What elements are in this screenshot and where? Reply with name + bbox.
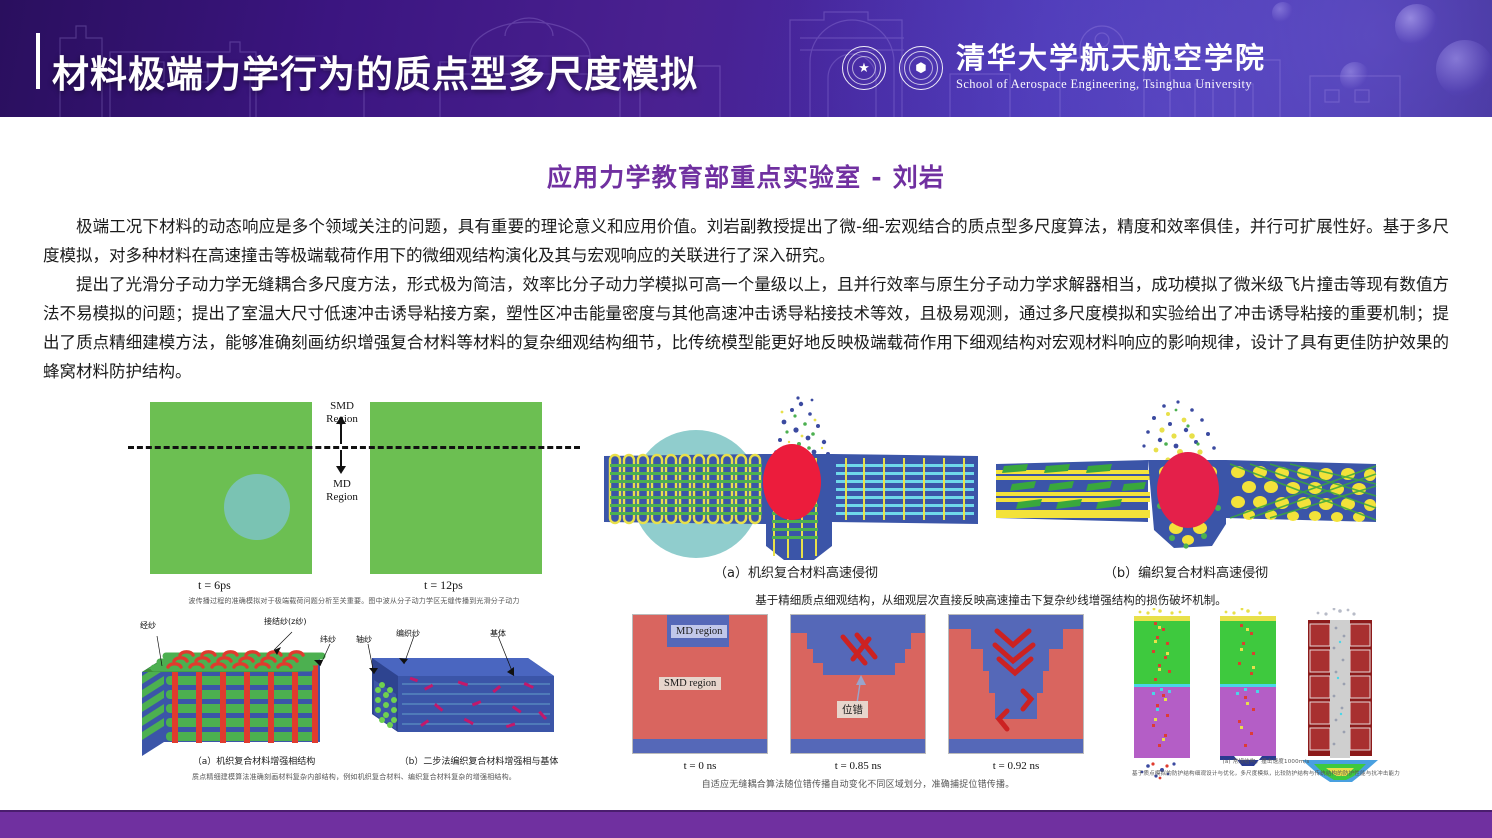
region-divider-dashed-line <box>128 446 580 449</box>
arrow-up-stem <box>340 422 342 444</box>
figure-honeycomb: (a) 常规结构，撞击速度1000m/s 基于质点模拟的防护结构细观设计与优化，… <box>1120 608 1412 788</box>
time-label-085: t = 0.85 ns <box>790 760 926 772</box>
figure-weave-caption: 质点精细建模算法准确刻画材料复杂内部结构，例如机织复合材料、编织复合材料复杂的增… <box>124 772 584 782</box>
time-label-left: t = 6ps <box>198 578 231 593</box>
figure-penetration-caption: 基于精细质点细观结构，从细观层次直接反映高速撞击下复杂纱线增强结构的损伤破坏机制… <box>596 592 1386 608</box>
penetration-illustration <box>596 396 1386 586</box>
aerospace-school-seal-icon: ⬢ <box>899 46 943 90</box>
label-matrix: 基体 <box>490 628 506 639</box>
label-binder-yarn: 接结纱(z纱) <box>264 616 306 627</box>
label-weft-yarn: 纬纱 <box>320 634 336 645</box>
lab-and-author-subtitle: 应用力学教育部重点实验室 - 刘岩 <box>0 158 1492 194</box>
slide-header: 材料极端力学行为的质点型多尺度模拟 ★ ⬢ 清华大学航天航空学院 School … <box>0 0 1492 117</box>
figure-honeycomb-caption-a: (a) 常规结构，撞击速度1000m/s <box>1120 758 1412 766</box>
institution-logo: ★ ⬢ 清华大学航天航空学院 School of Aerospace Engin… <box>842 44 1266 92</box>
title-accent-bar <box>36 33 40 89</box>
time-label-right: t = 12ps <box>424 578 463 593</box>
figure-honeycomb-caption: 基于质点模拟的防护结构细观设计与优化，多尺度模拟，比较防护结构与传统结构的防护性… <box>1120 770 1412 778</box>
tsinghua-university-seal-icon: ★ <box>842 46 886 90</box>
wave-panel-right <box>370 402 542 574</box>
arrow-down-icon <box>336 466 346 474</box>
figures-area: SMD Region MD Region t = 6ps t = 12ps 波传… <box>0 390 1492 800</box>
figure-wave-propagation: SMD Region MD Region t = 6ps t = 12ps 波传… <box>124 396 584 606</box>
dislocation-panel-t085: 位错 <box>790 614 926 754</box>
dislocation-tag: 位错 <box>837 701 868 718</box>
page-title: 材料极端力学行为的质点型多尺度模拟 <box>52 44 698 98</box>
dislocation-panel-t092 <box>948 614 1084 754</box>
label-axial-yarn: 轴纱 <box>356 634 372 645</box>
paragraph-1: 极端工况下材料的动态响应是多个领域关注的问题，具有重要的理论意义和应用价值。刘岩… <box>43 212 1449 270</box>
seal-star-icon: ★ <box>852 56 876 80</box>
paragraph-2: 提出了光滑分子动力学无缝耦合多尺度方法，形式极为简洁，效率比分子动力学模拟可高一… <box>43 270 1449 386</box>
label-braided-yarn: 编织纱 <box>396 628 420 639</box>
wave-panel-left <box>150 402 312 574</box>
figure-dislocation-caption: 自适应无缝耦合算法随位错传播自动变化不同区域划分，准确捕捉位错传播。 <box>552 780 1164 790</box>
wave-ring-small <box>224 474 290 540</box>
logo-english-name: School of Aerospace Engineering, Tsinghu… <box>956 77 1266 92</box>
time-label-0: t = 0 ns <box>632 760 768 772</box>
dislocation-marks-late <box>949 615 1085 755</box>
dislocation-marks <box>791 615 927 755</box>
time-label-092: t = 0.92 ns <box>948 760 1084 772</box>
figure-dislocation: MD region SMD region 位错 <box>632 614 1084 782</box>
figure-wave-caption: 波传播过程的准确模拟对于极端载荷问题分析至关重要。图中波从分子动力学区无缝传播到… <box>124 596 584 606</box>
figure-penetration-caption-a: （a）机织复合材料高速侵彻 <box>676 562 916 581</box>
figure-penetration-caption-b: （b）编织复合材料高速侵彻 <box>1066 562 1306 581</box>
figure-weave-caption-b: （b）二步法编织复合材料增强相与基体 <box>374 754 584 767</box>
body-text-block: 极端工况下材料的动态响应是多个领域关注的问题，具有重要的理论意义和应用价值。刘岩… <box>43 212 1449 386</box>
slide-footer-bar <box>0 810 1492 838</box>
logo-chinese-name: 清华大学航天航空学院 <box>956 44 1266 73</box>
dislocation-panel-t0: MD region SMD region <box>632 614 768 754</box>
figure-weave-structures: 经纱 接结纱(z纱) 纬纱 轴纱 编织纱 基体 （a）机织复合材料增强相结构 （… <box>124 614 584 786</box>
md-region-tag: MD region <box>671 625 727 638</box>
label-warp-yarn: 经纱 <box>140 620 156 631</box>
md-region-label: MD Region <box>314 478 370 504</box>
presentation-slide: 材料极端力学行为的质点型多尺度模拟 ★ ⬢ 清华大学航天航空学院 School … <box>0 0 1492 838</box>
bottom-blue-band <box>633 739 767 753</box>
figure-penetration: （a）机织复合材料高速侵彻 （b）编织复合材料高速侵彻 基于精细质点细观结构，从… <box>596 396 1386 586</box>
figure-weave-caption-a: （a）机织复合材料增强相结构 <box>164 754 344 767</box>
smd-region-tag: SMD region <box>659 677 721 690</box>
seal-glyph-icon: ⬢ <box>909 56 933 80</box>
